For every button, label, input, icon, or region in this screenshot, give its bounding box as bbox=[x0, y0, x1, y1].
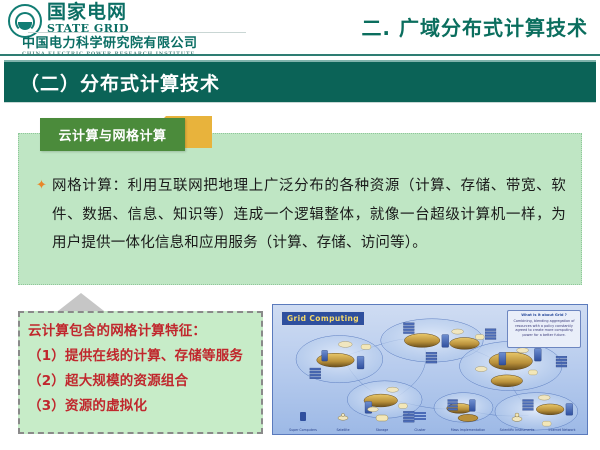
grid-diagram-legend: Super Computers Satellite Storage Cluste… bbox=[273, 406, 587, 432]
legend-label-1: Satellite bbox=[325, 428, 361, 432]
institute-name-cn: 中国电力科学研究院有限公司 bbox=[22, 36, 198, 51]
diamond-bullet-icon: ✦ bbox=[36, 172, 52, 258]
grid-diagram-title: Grid Computing bbox=[281, 311, 365, 326]
legend-label-0: Super Computers bbox=[281, 428, 325, 432]
legend-item-mass-implementation: Mass Implementation bbox=[443, 408, 493, 432]
grid-computing-diagram: Grid Computing What is it about Grid ? C… bbox=[272, 304, 588, 435]
grid-diagram-note-heading: What is it about Grid ? bbox=[510, 313, 578, 318]
grid-diagram-note-body: Combining, blending aggregation of resou… bbox=[510, 319, 578, 337]
legend-item-scientific-instruments: Scientific Instruments bbox=[495, 408, 539, 432]
legend-label-3: Cluster bbox=[401, 428, 439, 432]
cloud-feature-item-2: （2）超大规模的资源组合 bbox=[28, 369, 261, 394]
legend-item-satellite: Satellite bbox=[325, 408, 361, 432]
legend-label-6: Internet Network bbox=[539, 428, 585, 432]
header-rule bbox=[0, 54, 600, 56]
cloud-feature-item-3: （3）资源的虚拟化 bbox=[28, 394, 261, 419]
header-divider bbox=[28, 32, 246, 33]
legend-label-2: Storage bbox=[363, 428, 401, 432]
brand-logo-text: 国家电网 STATE GRID bbox=[47, 2, 129, 35]
chapter-title: 二. 广域分布式计算技术 bbox=[361, 12, 588, 41]
callout-arrow-icon bbox=[58, 291, 104, 311]
legend-label-4: Mass Implementation bbox=[443, 428, 493, 432]
subsection-tab[interactable]: 云计算与网格计算 bbox=[40, 118, 185, 151]
legend-item-super-computers: Super Computers bbox=[281, 408, 325, 432]
slide-header: 国家电网 STATE GRID 中国电力科学研究院有限公司 CHINA ELEC… bbox=[0, 0, 600, 56]
legend-item-storage: Storage bbox=[363, 408, 401, 432]
cloud-features-box: 云计算包含的网格计算特征： （1）提供在线的计算、存储等服务 （2）超大规模的资… bbox=[18, 311, 263, 434]
legend-item-cluster: Cluster bbox=[401, 408, 439, 432]
subsection-tab-label: 云计算与网格计算 bbox=[58, 125, 166, 144]
grid-diagram-note: What is it about Grid ? Combining, blend… bbox=[507, 310, 581, 348]
section-title-label: （二）分布式计算技术 bbox=[20, 69, 220, 96]
section-title-bar: （二）分布式计算技术 bbox=[4, 60, 596, 103]
legend-label-5: Scientific Instruments bbox=[495, 428, 539, 432]
cloud-features-title: 云计算包含的网格计算特征： bbox=[28, 319, 261, 344]
brand-name-en: STATE GRID bbox=[47, 23, 129, 35]
brand-name-cn: 国家电网 bbox=[47, 2, 129, 23]
grid-definition-text: 网格计算：利用互联网把地理上广泛分布的各种资源（计算、存储、带宽、软件、数据、信… bbox=[52, 172, 566, 258]
legend-item-internet-network: Internet Network bbox=[539, 427, 585, 432]
grid-definition-paragraph: ✦ 网格计算：利用互联网把地理上广泛分布的各种资源（计算、存储、带宽、软件、数据… bbox=[36, 172, 566, 258]
cloud-feature-item-1: （1）提供在线的计算、存储等服务 bbox=[28, 344, 261, 369]
